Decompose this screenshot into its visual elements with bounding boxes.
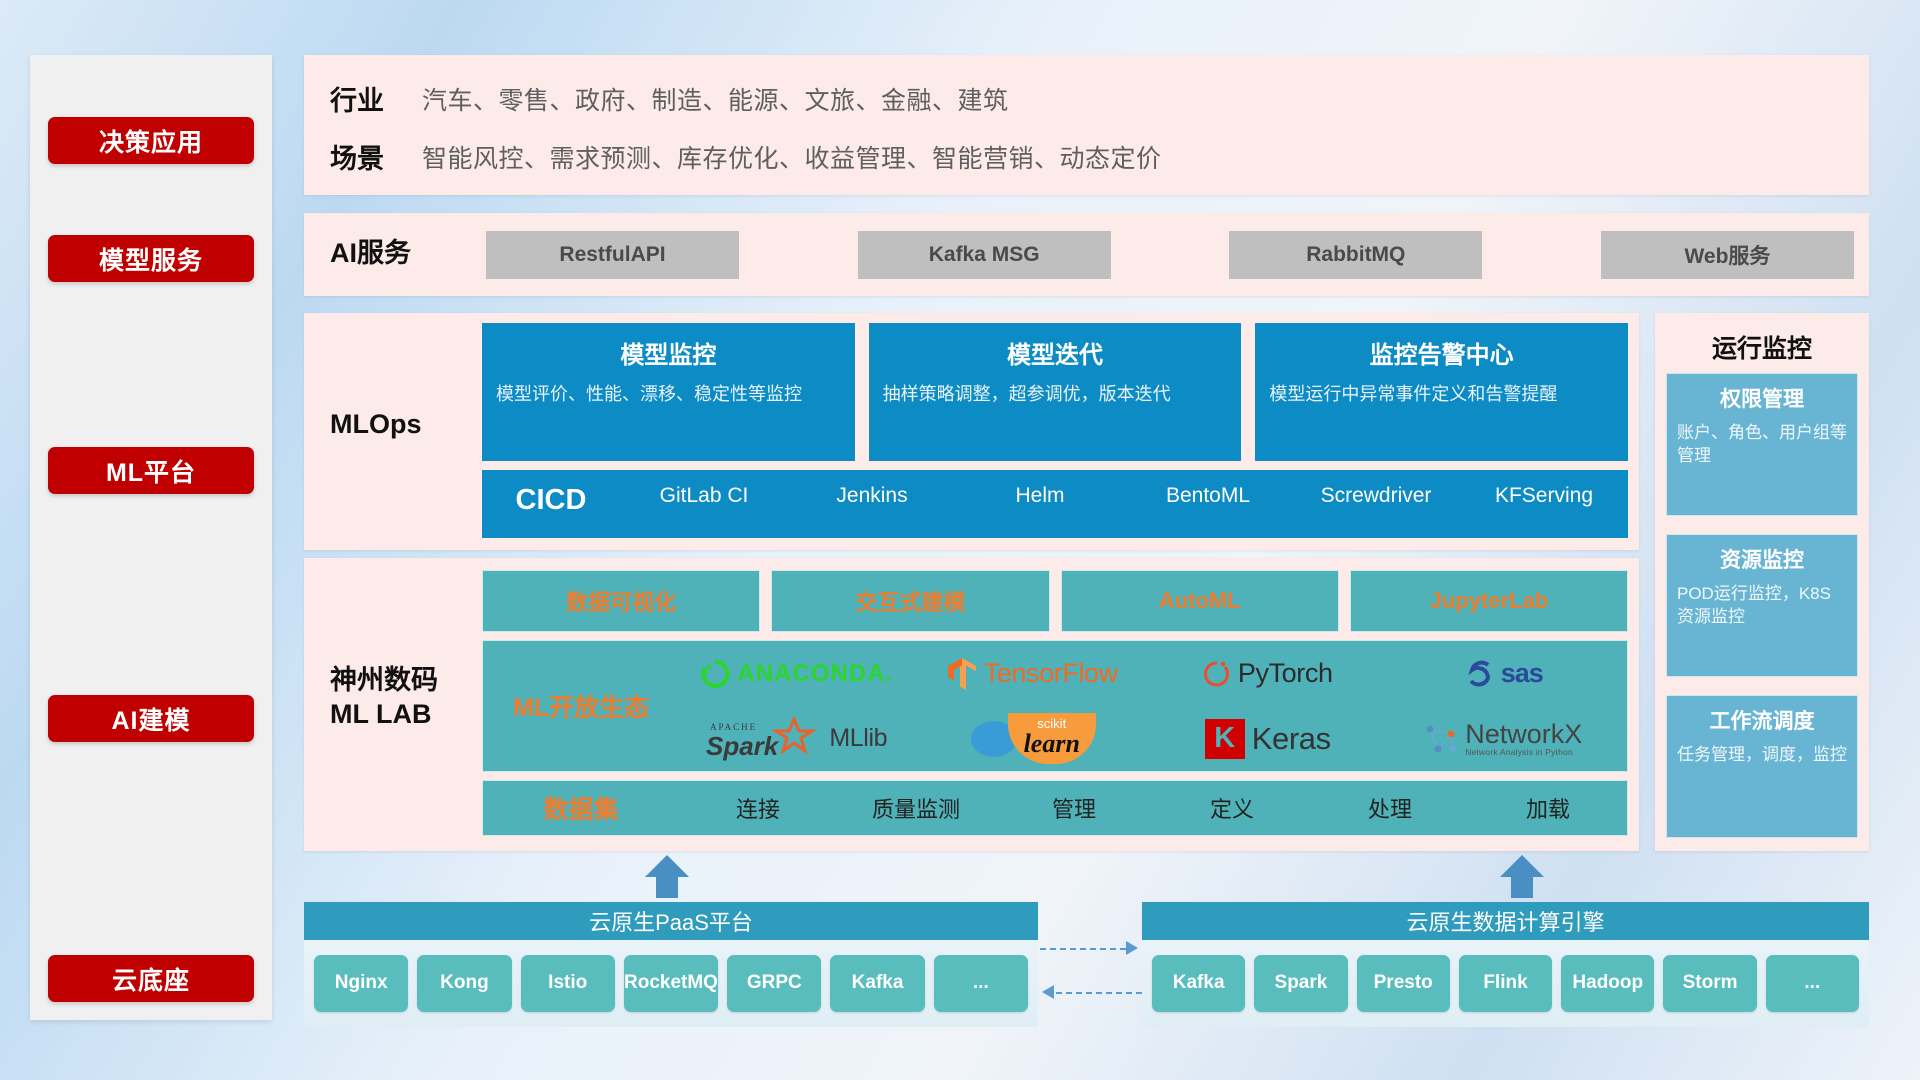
monitor-card-resource-monitoring[interactable]: 资源监控 POD运行监控，K8S资源监控: [1666, 534, 1858, 677]
monitor-card-desc: 任务管理，调度，监控: [1677, 743, 1847, 766]
paas-header: 云原生PaaS平台: [304, 902, 1038, 940]
sas-icon: [1464, 660, 1494, 688]
scikit-learn-badge: scikit learn: [1008, 713, 1096, 764]
mlops-card-alert-center[interactable]: 监控告警中心 模型运行中异常事件定义和告警提醒: [1255, 323, 1628, 461]
sas-logo: sas: [1464, 658, 1543, 689]
lab-tool-label: 交互式建模: [855, 585, 965, 617]
data-engine-chip-spark[interactable]: Spark: [1254, 955, 1347, 1012]
cicd-tool-helm[interactable]: Helm: [956, 484, 1124, 508]
svg-text:Spark: Spark: [706, 731, 780, 761]
scenario-row: 场景 智能风控、需求预测、库存优化、收益管理、智能营销、动态定价: [304, 137, 1162, 176]
data-engine-header: 云原生数据计算引擎: [1142, 902, 1869, 940]
paas-chip-list: Nginx Kong Istio RocketMQ GRPC Kafka ...: [304, 940, 1038, 1027]
anaconda-logo-text: ANACONDA.: [737, 660, 893, 688]
pytorch-icon: [1203, 659, 1231, 689]
mlops-band: MLOps 模型监控 模型评价、性能、漂移、稳定性等监控 模型迭代 抽样策略调整…: [304, 313, 1639, 550]
service-chip-label: RestfulAPI: [559, 243, 665, 267]
cicd-tool-kfserving[interactable]: KFServing: [1460, 484, 1628, 508]
stage-pill-label: 决策应用: [99, 123, 203, 159]
dataset-item-definition[interactable]: 定义: [1153, 792, 1311, 824]
ai-service-band: AI服务 RestfulAPI Kafka MSG RabbitMQ Web服务: [304, 213, 1869, 296]
mlops-card-desc: 抽样策略调整，超参调优，版本迭代: [883, 382, 1228, 406]
pytorch-logo-text: PyTorch: [1238, 658, 1333, 689]
service-chip-label: RabbitMQ: [1306, 243, 1405, 267]
paas-chip-rocketmq[interactable]: RocketMQ: [624, 955, 718, 1012]
cicd-tool-gitlab-ci[interactable]: GitLab CI: [620, 484, 788, 508]
mlops-card-title: 模型迭代: [883, 335, 1228, 370]
service-chip-restfulapi[interactable]: RestfulAPI: [486, 231, 739, 279]
lab-tool-automl[interactable]: AutoML: [1061, 570, 1339, 632]
mlops-card-title: 监控告警中心: [1269, 335, 1614, 370]
networkx-logo-text: NetworkX: [1465, 721, 1582, 748]
stage-pill-model-service[interactable]: 模型服务: [48, 235, 254, 282]
cloud-native-data-engine-group: 云原生数据计算引擎 Kafka Spark Presto Flink Hadoo…: [1142, 902, 1869, 1027]
industry-row-label: 行业: [304, 79, 422, 118]
service-chip-web-service[interactable]: Web服务: [1601, 231, 1854, 279]
scikit-learn-logo-text: learn: [1024, 730, 1080, 757]
lab-tool-jupyterlab[interactable]: JupyterLab: [1350, 570, 1628, 632]
paas-chip-istio[interactable]: Istio: [521, 955, 615, 1012]
stage-pill-label: 模型服务: [99, 241, 203, 277]
monitor-card-title: 资源监控: [1677, 544, 1847, 574]
cicd-tool-screwdriver[interactable]: Screwdriver: [1292, 484, 1460, 508]
stage-column: 决策应用 模型服务 ML平台 AI建模 云底座: [30, 55, 272, 1020]
lab-tool-label: JupyterLab: [1430, 588, 1549, 614]
data-engine-chip-kafka[interactable]: Kafka: [1152, 955, 1245, 1012]
dataset-title: 数据集: [483, 790, 679, 826]
monitor-card-permission-management[interactable]: 权限管理 账户、角色、用户组等管理: [1666, 373, 1858, 516]
keras-logo: K Keras: [1205, 719, 1331, 759]
stage-pill-decision-apps[interactable]: 决策应用: [48, 117, 254, 164]
mlops-card-desc: 模型运行中异常事件定义和告警提醒: [1269, 382, 1614, 406]
scenario-row-values: 智能风控、需求预测、库存优化、收益管理、智能营销、动态定价: [422, 139, 1162, 175]
monitor-card-title: 权限管理: [1677, 383, 1847, 413]
stage-pill-label: 云底座: [112, 961, 190, 997]
decision-apps-band: 行业 汽车、零售、政府、制造、能源、文旅、金融、建筑 场景 智能风控、需求预测、…: [304, 55, 1869, 195]
lab-tool-label: AutoML: [1159, 588, 1241, 614]
dataset-item-connect[interactable]: 连接: [679, 792, 837, 824]
service-chip-label: Web服务: [1684, 240, 1770, 270]
bidirectional-link-arrows: [1040, 940, 1144, 1006]
networkx-logo: NetworkX Network Analysis in Python: [1424, 721, 1582, 757]
cicd-tool-jenkins[interactable]: Jenkins: [788, 484, 956, 508]
data-engine-chip-storm[interactable]: Storm: [1663, 955, 1756, 1012]
sas-logo-text: sas: [1501, 658, 1543, 689]
lab-tool-data-visualization[interactable]: 数据可视化: [482, 570, 760, 632]
data-engine-chip-more[interactable]: ...: [1766, 955, 1859, 1012]
service-chip-label: Kafka MSG: [929, 243, 1040, 267]
mlops-label: MLOps: [330, 408, 422, 442]
lab-tool-interactive-modeling[interactable]: 交互式建模: [771, 570, 1049, 632]
paas-chip-kafka[interactable]: Kafka: [830, 955, 924, 1012]
cicd-tool-bentoml[interactable]: BentoML: [1124, 484, 1292, 508]
ml-lab-tool-list: 数据可视化 交互式建模 AutoML JupyterLab: [482, 570, 1628, 632]
industry-row: 行业 汽车、零售、政府、制造、能源、文旅、金融、建筑: [304, 79, 1009, 118]
ml-lab-band: 神州数码 ML LAB 数据可视化 交互式建模 AutoML JupyterLa…: [304, 558, 1639, 851]
ml-lab-label: 神州数码 ML LAB: [330, 664, 438, 732]
spark-mllib-logo: APACHE Spark MLlib: [706, 717, 887, 761]
stage-pill-label: AI建模: [111, 701, 190, 737]
paas-chip-nginx[interactable]: Nginx: [314, 955, 408, 1012]
dataset-item-quality-monitoring[interactable]: 质量监测: [837, 792, 995, 824]
monitor-card-workflow-scheduling[interactable]: 工作流调度 任务管理，调度，监控: [1666, 695, 1858, 838]
anaconda-icon: [700, 659, 730, 689]
service-chip-kafka-msg[interactable]: Kafka MSG: [858, 231, 1111, 279]
scikit-learn-logo: scikit learn: [969, 713, 1096, 764]
scikit-text: scikit: [1024, 717, 1080, 730]
tensorflow-logo-text: TensorFlow: [984, 658, 1118, 689]
data-engine-chip-hadoop[interactable]: Hadoop: [1561, 955, 1654, 1012]
paas-chip-grpc[interactable]: GRPC: [727, 955, 821, 1012]
mlops-card-model-monitoring[interactable]: 模型监控 模型评价、性能、漂移、稳定性等监控: [482, 323, 855, 461]
paas-chip-kong[interactable]: Kong: [417, 955, 511, 1012]
dataset-item-management[interactable]: 管理: [995, 792, 1153, 824]
lab-tool-label: 数据可视化: [566, 585, 676, 617]
service-chip-rabbitmq[interactable]: RabbitMQ: [1229, 231, 1482, 279]
ai-service-label: AI服务: [330, 237, 411, 271]
tensorflow-logo: TensorFlow: [947, 657, 1118, 691]
stage-pill-ml-platform[interactable]: ML平台: [48, 447, 254, 494]
mlops-card-list: 模型监控 模型评价、性能、漂移、稳定性等监控 模型迭代 抽样策略调整，超参调优，…: [482, 323, 1628, 461]
data-engine-chip-presto[interactable]: Presto: [1357, 955, 1450, 1012]
dataset-item-processing[interactable]: 处理: [1311, 792, 1469, 824]
stage-pill-cloud-base[interactable]: 云底座: [48, 955, 254, 1002]
keras-logo-text: Keras: [1252, 721, 1331, 757]
ai-service-chip-list: RestfulAPI Kafka MSG RabbitMQ Web服务: [486, 226, 1854, 283]
monitor-card-title: 工作流调度: [1677, 705, 1847, 735]
stage-pill-ai-modeling[interactable]: AI建模: [48, 695, 254, 742]
mlops-card-model-iteration[interactable]: 模型迭代 抽样策略调整，超参调优，版本迭代: [869, 323, 1242, 461]
ml-ecosystem-logo-grid: ANACONDA. TensorFlow PyTorch: [679, 641, 1627, 771]
networkx-icon: [1424, 722, 1458, 756]
monitor-card-desc: POD运行监控，K8S资源监控: [1677, 582, 1847, 629]
cloud-native-paas-group: 云原生PaaS平台 Nginx Kong Istio RocketMQ GRPC…: [304, 902, 1038, 1027]
tensorflow-icon: [947, 657, 977, 691]
runtime-monitoring-card-list: 权限管理 账户、角色、用户组等管理 资源监控 POD运行监控，K8S资源监控 工…: [1666, 373, 1858, 838]
dataset-item-loading[interactable]: 加载: [1469, 792, 1627, 824]
runtime-monitoring-band: 运行监控 权限管理 账户、角色、用户组等管理 资源监控 POD运行监控，K8S资…: [1655, 313, 1869, 851]
stage-pill-label: ML平台: [106, 453, 196, 489]
keras-icon: K: [1205, 719, 1245, 759]
monitor-card-desc: 账户、角色、用户组等管理: [1677, 421, 1847, 468]
mlops-card-desc: 模型评价、性能、漂移、稳定性等监控: [496, 382, 841, 406]
ml-ecosystem-row: ML开放生态 ANACONDA. TensorFlow: [482, 640, 1628, 772]
pytorch-logo: PyTorch: [1203, 658, 1333, 689]
ml-ecosystem-title: ML开放生态: [483, 688, 679, 724]
mllib-logo-text: MLlib: [829, 724, 887, 753]
data-engine-chip-list: Kafka Spark Presto Flink Hadoop Storm ..…: [1142, 940, 1869, 1027]
cicd-title: CICD: [482, 484, 620, 517]
runtime-monitoring-title: 运行监控: [1655, 329, 1869, 365]
cicd-bar: CICD GitLab CI Jenkins Helm BentoML Scre…: [482, 470, 1628, 538]
mlops-card-title: 模型监控: [496, 335, 841, 370]
networkx-tagline: Network Analysis in Python: [1465, 748, 1582, 757]
anaconda-logo: ANACONDA.: [700, 659, 893, 689]
industry-row-values: 汽车、零售、政府、制造、能源、文旅、金融、建筑: [422, 81, 1009, 117]
scenario-row-label: 场景: [304, 137, 422, 176]
apache-spark-icon: APACHE Spark: [706, 717, 822, 761]
data-engine-chip-flink[interactable]: Flink: [1459, 955, 1552, 1012]
paas-chip-more[interactable]: ...: [934, 955, 1028, 1012]
dataset-row: 数据集 连接 质量监测 管理 定义 处理 加载: [482, 780, 1628, 836]
